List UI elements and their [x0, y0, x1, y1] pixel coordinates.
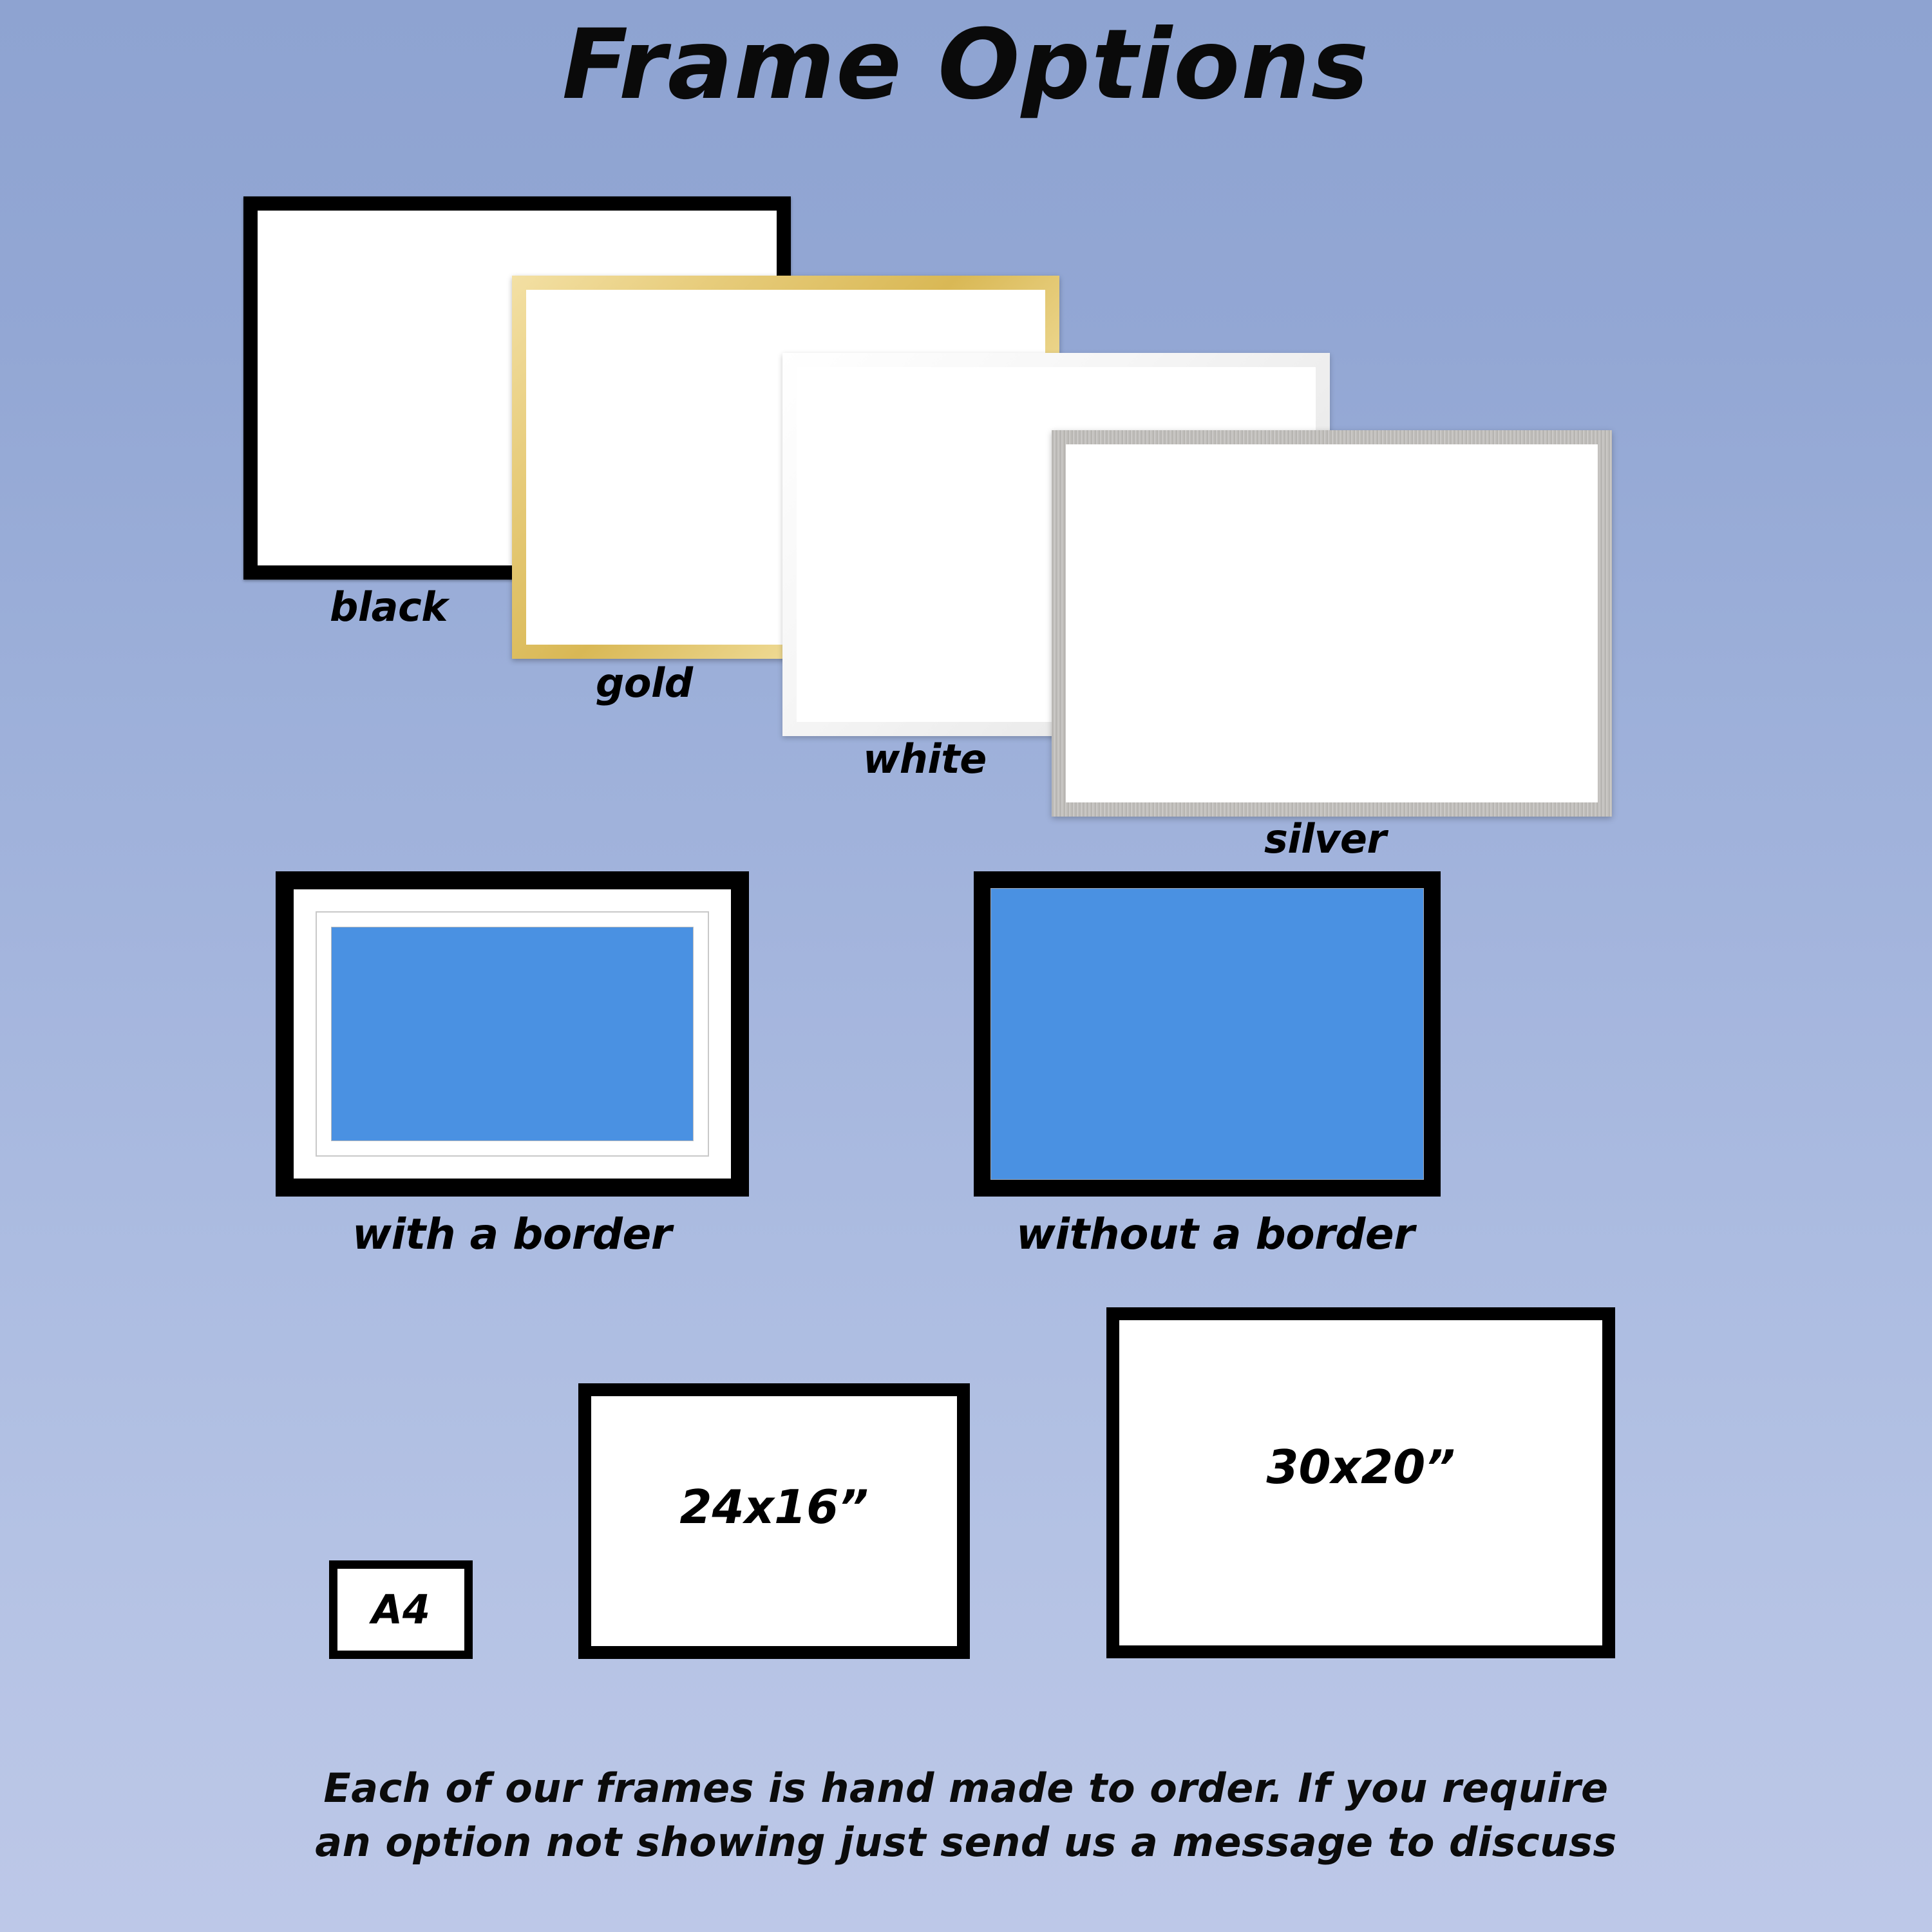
frame-sample-with-border[interactable] [276, 871, 749, 1197]
size-label-24x16: 24x16” [679, 1484, 868, 1530]
footer-note: Each of our frames is hand made to order… [0, 1761, 1932, 1870]
size-label-30x20: 30x20” [1266, 1444, 1455, 1490]
frame-options-poster: Frame Options black gold white silver wi… [0, 0, 1932, 1932]
frame-sample-without-border[interactable] [974, 871, 1441, 1197]
frame-sample-24x16[interactable]: 24x16” [578, 1383, 970, 1659]
frame-label-with-border: with a border [352, 1213, 672, 1256]
frame-label-black: black [330, 587, 448, 627]
frame-label-silver: silver [1264, 819, 1386, 859]
mat-outer [316, 911, 709, 1157]
frame-sample-30x20[interactable]: 30x20” [1106, 1307, 1615, 1658]
size-label-a4: A4 [372, 1587, 430, 1633]
footer-note-line-1: Each of our frames is hand made to order… [0, 1761, 1932, 1815]
frame-label-without-border: without a border [1016, 1213, 1414, 1256]
artwork-area [990, 888, 1424, 1180]
frame-label-white: white [863, 739, 987, 779]
page-title: Frame Options [0, 17, 1932, 113]
frame-sample-a4[interactable]: A4 [329, 1560, 473, 1659]
frame-sample-silver[interactable] [1052, 430, 1612, 817]
frame-label-gold: gold [596, 663, 693, 703]
artwork-area [331, 927, 694, 1141]
footer-note-line-2: an option not showing just send us a mes… [0, 1815, 1932, 1870]
